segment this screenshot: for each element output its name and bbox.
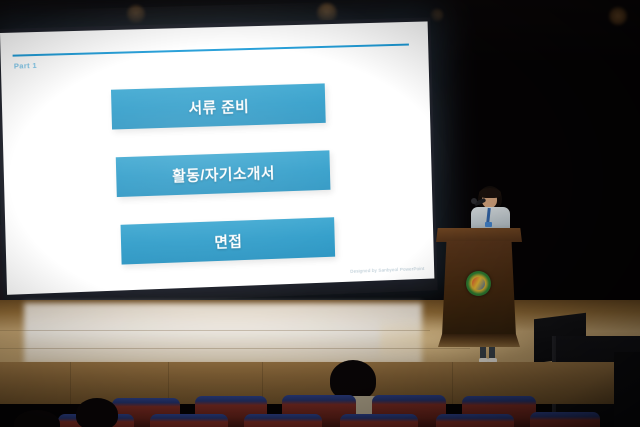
slide-part-label: Part 1 [14, 61, 37, 71]
audience-member-head [330, 360, 376, 400]
screen-surface: Part 1 서류 준비 활동/자기소개서 면접 Designed by San… [0, 21, 434, 294]
slide-step-label-2: 활동/자기소개서 [172, 162, 275, 186]
seat [436, 414, 514, 427]
podium-top [436, 228, 522, 242]
seat [150, 414, 228, 427]
slide-step-label-1: 서류 준비 [188, 95, 249, 118]
podium-base [438, 334, 520, 347]
slide-template-credit: Designed by Sanbyeol PowerPoint [350, 266, 424, 274]
stage-floor-spill-light [24, 303, 422, 365]
projection-screen: Part 1 서류 준비 활동/자기소개서 면접 Designed by San… [0, 21, 435, 300]
slide-step-bar-1: 서류 준비 [111, 83, 326, 129]
slide-step-label-3: 면접 [214, 230, 243, 252]
microphone-head-icon [471, 198, 477, 204]
presenter [466, 186, 514, 234]
right-speaker-stack [614, 352, 640, 427]
podium-body [442, 241, 516, 336]
ceiling-light-icon [430, 8, 444, 22]
ceiling-light-icon [608, 6, 628, 26]
slide-header-rule [13, 44, 409, 57]
presenter-badge [485, 222, 492, 227]
slide-step-bar-2: 활동/자기소개서 [116, 150, 331, 197]
auditorium-scene: Part 1 서류 준비 활동/자기소개서 면접 Designed by San… [0, 0, 640, 427]
seat [244, 414, 322, 427]
audience-member-head [14, 410, 60, 427]
institution-crest-icon [466, 271, 491, 296]
seat [340, 414, 418, 427]
presentation-slide: Part 1 서류 준비 활동/자기소개서 면접 Designed by San… [0, 21, 434, 294]
presenter-hair-front [479, 188, 501, 198]
podium [436, 228, 522, 348]
audience-member-head [76, 398, 118, 427]
seat [530, 412, 600, 427]
floor-plank-seam [0, 348, 470, 349]
ceiling-light-icon [126, 4, 146, 24]
floor-plank-seam [0, 330, 430, 331]
slide-step-bar-3: 면접 [121, 217, 336, 264]
